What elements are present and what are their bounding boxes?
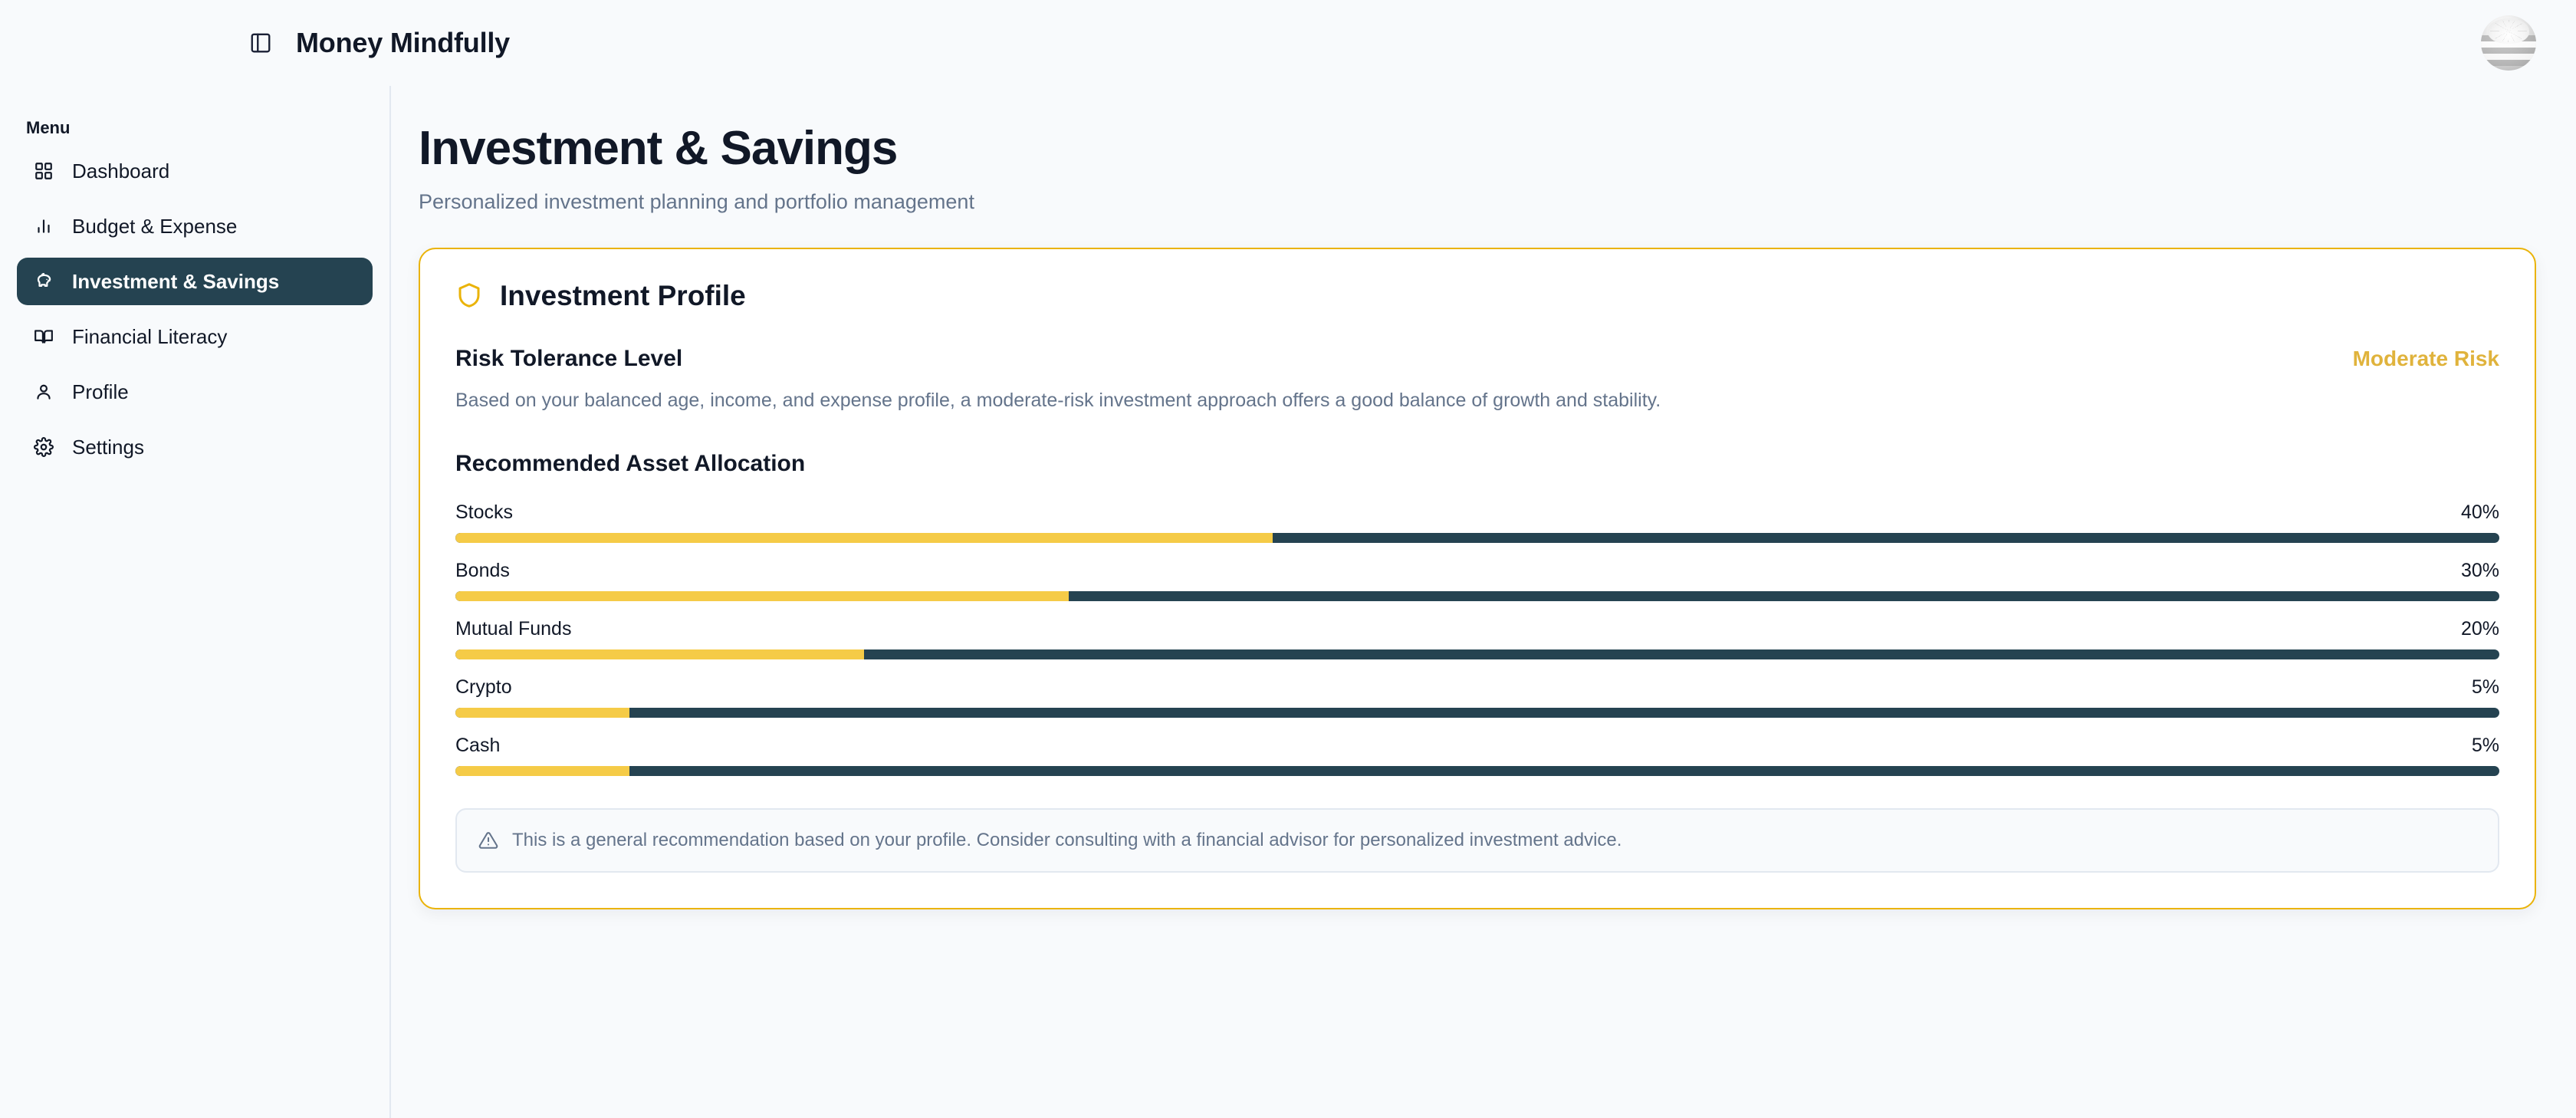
book-open-icon	[32, 325, 55, 348]
sidebar-item-financial-literacy[interactable]: Financial Literacy	[17, 313, 373, 360]
top-bar: Money Mindfully	[0, 0, 2576, 86]
main-content: Investment & Savings Personalized invest…	[391, 86, 2576, 1118]
shield-icon	[455, 281, 485, 311]
allocation-row: Bonds 30%	[455, 560, 2499, 601]
app-body: Menu Dashboard Budget & Expense	[0, 86, 2576, 1118]
sidebar-item-investment-savings[interactable]: Investment & Savings	[17, 258, 373, 305]
sidebar-item-label: Dashboard	[72, 159, 169, 183]
sidebar-item-label: Investment & Savings	[72, 270, 279, 294]
allocation-value: 30%	[2461, 560, 2499, 582]
allocation-label: Stocks	[455, 501, 513, 524]
progress-track	[455, 533, 2499, 543]
page-subtitle: Personalized investment planning and por…	[419, 190, 2536, 214]
gear-icon	[32, 436, 55, 459]
allocation-row: Stocks 40%	[455, 501, 2499, 543]
app-brand-title: Money Mindfully	[296, 27, 510, 59]
investment-profile-card: Investment Profile Risk Tolerance Level …	[419, 248, 2536, 909]
risk-tolerance-row: Risk Tolerance Level Moderate Risk	[455, 346, 2499, 372]
avatar[interactable]	[2481, 15, 2536, 71]
sidebar-item-label: Profile	[72, 380, 129, 404]
sidebar-item-label: Budget & Expense	[72, 215, 237, 238]
app-root: Money Mindfully Menu Dashboard	[0, 0, 2576, 1118]
sidebar-item-profile[interactable]: Profile	[17, 368, 373, 416]
progress-track	[455, 708, 2499, 718]
allocation-label: Cash	[455, 735, 500, 757]
sidebar-item-label: Financial Literacy	[72, 325, 227, 349]
avatar-dome	[2488, 18, 2530, 44]
allocation-row: Crypto 5%	[455, 676, 2499, 718]
grid-icon	[32, 159, 55, 182]
risk-tolerance-label: Risk Tolerance Level	[455, 346, 682, 372]
allocation-label: Mutual Funds	[455, 618, 571, 640]
sidebar-item-budget-expense[interactable]: Budget & Expense	[17, 202, 373, 250]
card-title: Investment Profile	[500, 280, 746, 312]
sidebar: Menu Dashboard Budget & Expense	[0, 86, 391, 1118]
allocation-value: 40%	[2461, 501, 2499, 524]
user-icon	[32, 380, 55, 403]
sidebar-item-settings[interactable]: Settings	[17, 423, 373, 471]
progress-fill	[455, 533, 1273, 543]
panel-left-icon[interactable]	[244, 26, 278, 60]
allocation-value: 5%	[2472, 676, 2499, 699]
progress-fill	[455, 766, 629, 776]
piggy-bank-icon	[32, 270, 55, 293]
alert-triangle-icon	[478, 830, 498, 850]
progress-fill	[455, 591, 1069, 601]
sidebar-section-label: Menu	[17, 107, 373, 147]
progress-track	[455, 591, 2499, 601]
allocation-label: Crypto	[455, 676, 512, 699]
risk-status-badge: Moderate Risk	[2353, 347, 2499, 371]
progress-track	[455, 766, 2499, 776]
page-title: Investment & Savings	[419, 123, 2536, 175]
card-header: Investment Profile	[455, 280, 2499, 312]
disclaimer-note: This is a general recommendation based o…	[455, 808, 2499, 873]
allocation-label: Bonds	[455, 560, 510, 582]
progress-fill	[455, 708, 629, 718]
progress-fill	[455, 649, 864, 659]
sidebar-item-label: Settings	[72, 436, 144, 459]
progress-track	[455, 649, 2499, 659]
asset-allocation-bars: Stocks 40% Bonds 30%	[455, 501, 2499, 776]
allocation-value: 5%	[2472, 735, 2499, 757]
allocation-row: Mutual Funds 20%	[455, 618, 2499, 659]
risk-description: Based on your balanced age, income, and …	[455, 387, 2499, 414]
bar-chart-icon	[32, 215, 55, 238]
allocation-title: Recommended Asset Allocation	[455, 451, 2499, 477]
allocation-value: 20%	[2461, 618, 2499, 640]
allocation-row: Cash 5%	[455, 735, 2499, 776]
disclaimer-text: This is a general recommendation based o…	[512, 830, 1621, 851]
sidebar-item-dashboard[interactable]: Dashboard	[17, 147, 373, 195]
